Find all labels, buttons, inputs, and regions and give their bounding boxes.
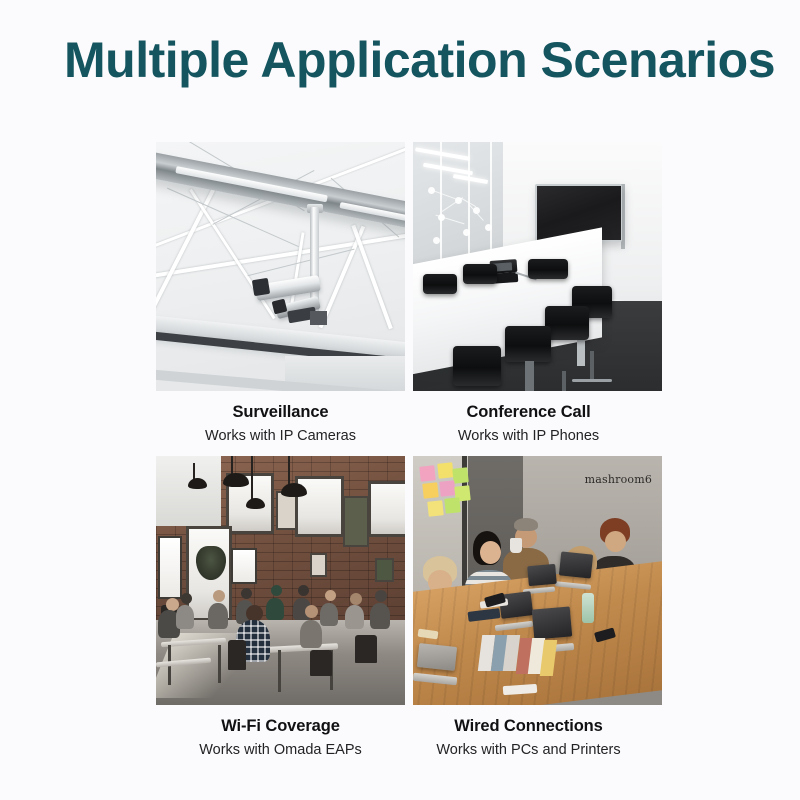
conference-call-caption: Conference Call Works with IP Phones [404,391,653,446]
wifi-coverage-caption: Wi-Fi Coverage Works with Omada EAPs [156,705,405,760]
page-title: Multiple Application Scenarios [64,30,775,90]
wifi-coverage-subtitle: Works with Omada EAPs [156,737,405,760]
scenario-card-surveillance[interactable]: Surveillance Works with IP Cameras [156,142,405,446]
scenario-card-wired-connections[interactable]: mashroom6 [413,456,662,760]
scenario-card-wifi-coverage[interactable]: Wi-Fi Coverage Works with Omada EAPs [156,456,405,760]
wall-logo-text: mashroom6 [585,473,652,486]
conference-call-image [413,142,662,391]
wired-connections-title: Wired Connections [404,716,653,737]
surveillance-caption: Surveillance Works with IP Cameras [156,391,405,446]
surveillance-image [156,142,405,391]
scenario-card-conference-call[interactable]: Conference Call Works with IP Phones [413,142,662,446]
surveillance-subtitle: Works with IP Cameras [156,423,405,446]
wifi-coverage-title: Wi-Fi Coverage [156,716,405,737]
wifi-coverage-image [156,456,405,705]
surveillance-title: Surveillance [156,402,405,423]
wired-connections-caption: Wired Connections Works with PCs and Pri… [404,705,653,760]
conference-call-title: Conference Call [404,402,653,423]
conference-call-subtitle: Works with IP Phones [404,423,653,446]
scenario-grid: Surveillance Works with IP Cameras [156,142,656,760]
wired-connections-subtitle: Works with PCs and Printers [404,737,653,760]
wired-connections-image: mashroom6 [413,456,662,705]
